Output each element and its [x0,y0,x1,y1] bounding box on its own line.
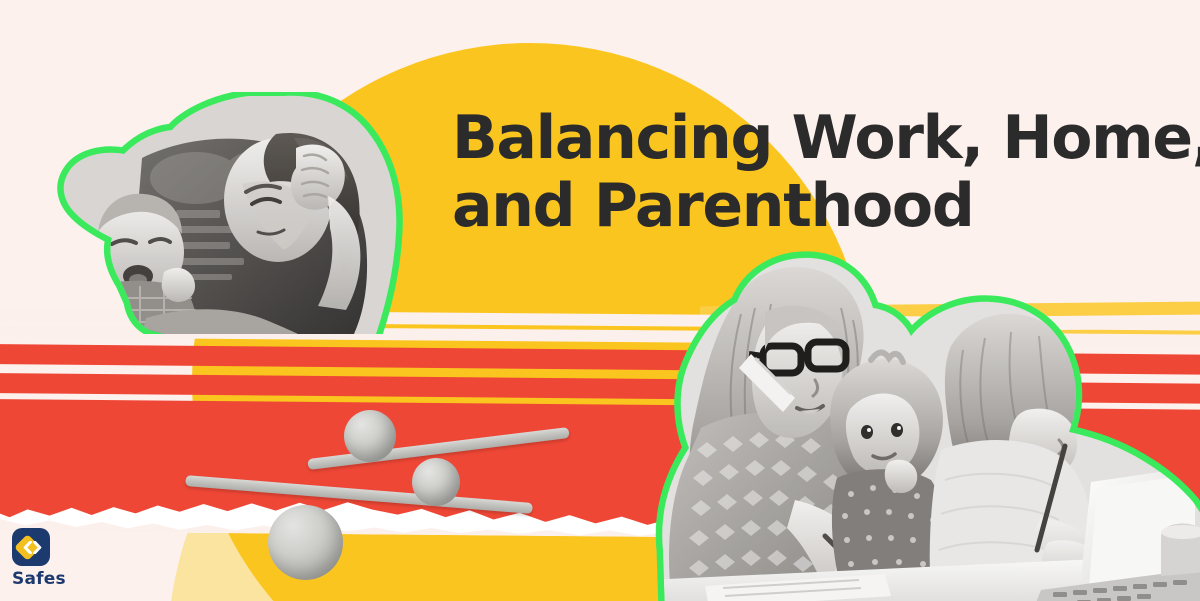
balance-sphere-large [268,505,343,580]
banner-canvas: Balancing Work, Home, and Parenthood Saf… [0,0,1200,601]
safes-logo-icon [12,528,50,566]
brand-logo[interactable]: Safes [12,528,76,589]
headline-line-1: Balancing Work, Home, [452,104,1172,172]
brand-name: Safes [12,569,76,589]
balance-sphere-medium [412,458,460,506]
chevron-left-icon [23,541,32,554]
photo-mother-and-children [645,250,1200,601]
chevron-right-icon [33,541,42,554]
photo-dad-and-baby [46,92,406,334]
balance-sphere-small-top [344,410,396,462]
headline-line-2: and Parenthood [452,172,1172,240]
headline: Balancing Work, Home, and Parenthood [452,104,1172,240]
